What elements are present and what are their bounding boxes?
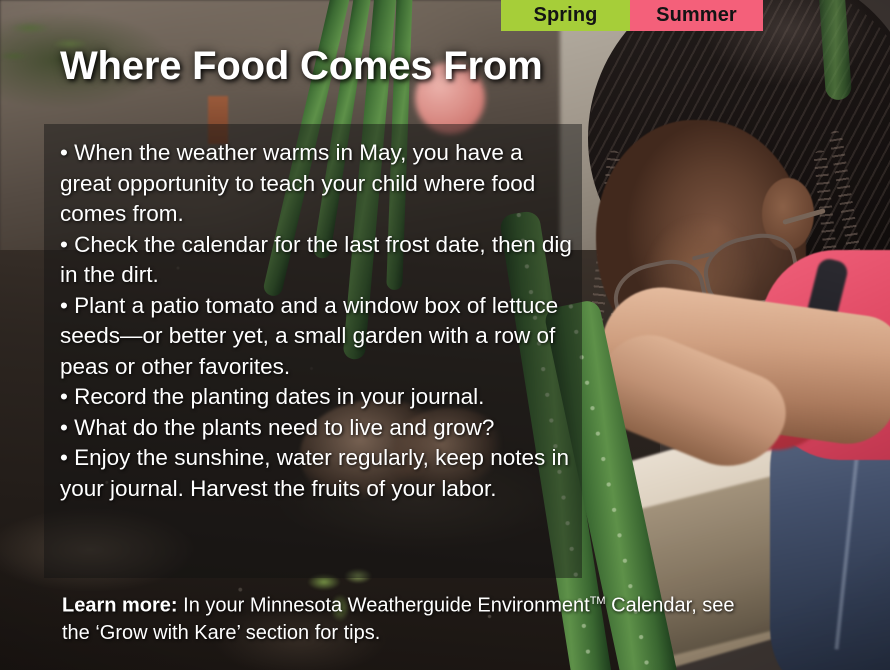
list-item: • Plant a patio tomato and a window box … — [60, 291, 580, 383]
list-item: • Record the planting dates in your jour… — [60, 382, 580, 413]
slide-card: Spring Summer Where Food Comes From • Wh… — [0, 0, 890, 670]
list-item: • Check the calendar for the last frost … — [60, 230, 580, 291]
learn-more-text-part-1: In your Minnesota Weatherguide Environme… — [178, 595, 590, 617]
page-title: Where Food Comes From — [60, 44, 543, 89]
learn-more-footer: Learn more: In your Minnesota Weathergui… — [62, 588, 762, 647]
tab-summer[interactable]: Summer — [630, 0, 763, 31]
activity-bullet-list: • When the weather warms in May, you hav… — [60, 138, 580, 504]
season-tab-bar: Spring Summer — [501, 0, 763, 31]
learn-more-label: Learn more: — [62, 595, 178, 617]
trademark-symbol: TM — [590, 595, 606, 607]
tab-spring[interactable]: Spring — [501, 0, 630, 31]
list-item: • Enjoy the sunshine, water regularly, k… — [60, 443, 580, 504]
list-item: • What do the plants need to live and gr… — [60, 413, 580, 444]
list-item: • When the weather warms in May, you hav… — [60, 138, 580, 230]
